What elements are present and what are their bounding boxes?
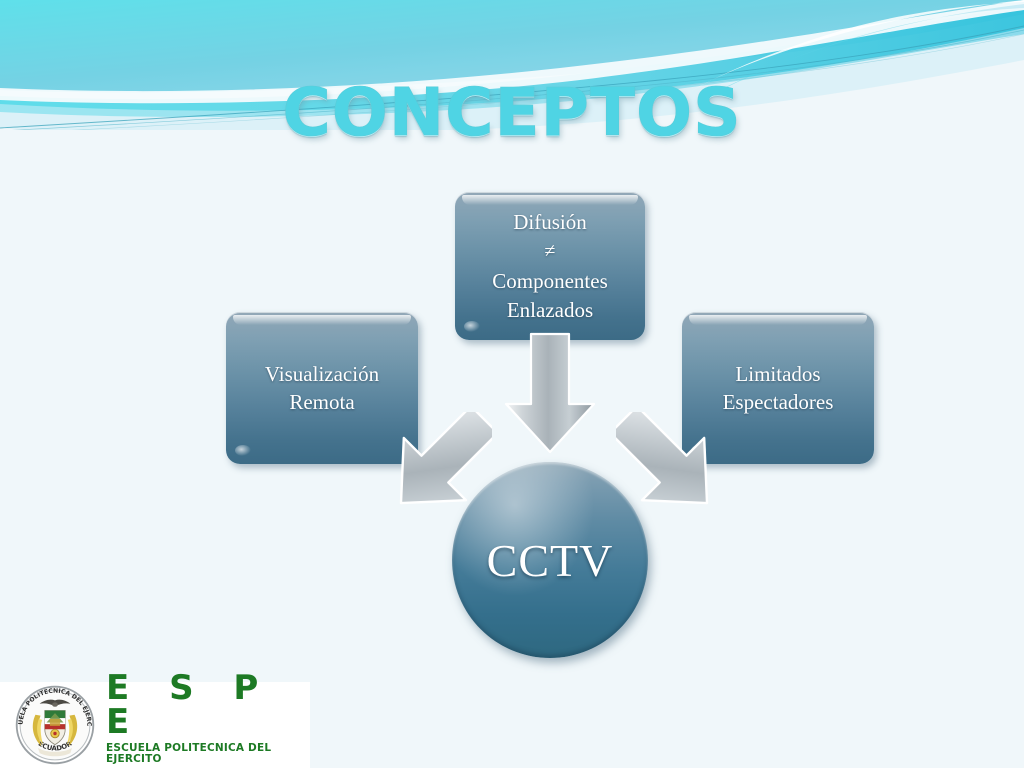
node-top-line-2: ≠: [545, 236, 556, 267]
espe-text-block: E S P E ESCUELA POLITECNICA DEL EJERCITO…: [106, 671, 310, 768]
center-node-cctv[interactable]: CCTV: [452, 462, 648, 658]
espe-crest-icon: ESCUELA POLITECNICA DEL EJERCITO ECUADOR: [12, 685, 98, 765]
node-right-line-2: Espectadores: [723, 388, 834, 416]
center-node-label: CCTV: [487, 534, 614, 587]
node-top-line-4: Enlazados: [507, 296, 593, 324]
node-box-limitados-espectadores[interactable]: Limitados Espectadores: [682, 312, 874, 464]
node-left-line-1: Visualización: [265, 360, 379, 388]
espe-logo: ESCUELA POLITECNICA DEL EJERCITO ECUADOR: [0, 682, 310, 768]
slide-canvas: CONCEPTOS Difusión ≠ Componentes Enlazad…: [0, 0, 1024, 768]
node-right-line-1: Limitados: [735, 360, 820, 388]
node-box-visualizacion-remota[interactable]: Visualización Remota: [226, 312, 418, 464]
node-left-line-2: Remota: [289, 388, 354, 416]
slide-title: CONCEPTOS: [0, 80, 1024, 146]
espe-full-name: ESCUELA POLITECNICA DEL EJERCITO: [106, 743, 310, 764]
espe-initials: E S P E: [106, 671, 310, 739]
node-box-difusion[interactable]: Difusión ≠ Componentes Enlazados: [455, 192, 645, 340]
node-top-line-1: Difusión: [513, 208, 587, 236]
arrow-down-icon: [500, 332, 600, 472]
node-top-line-3: Componentes: [492, 267, 608, 295]
